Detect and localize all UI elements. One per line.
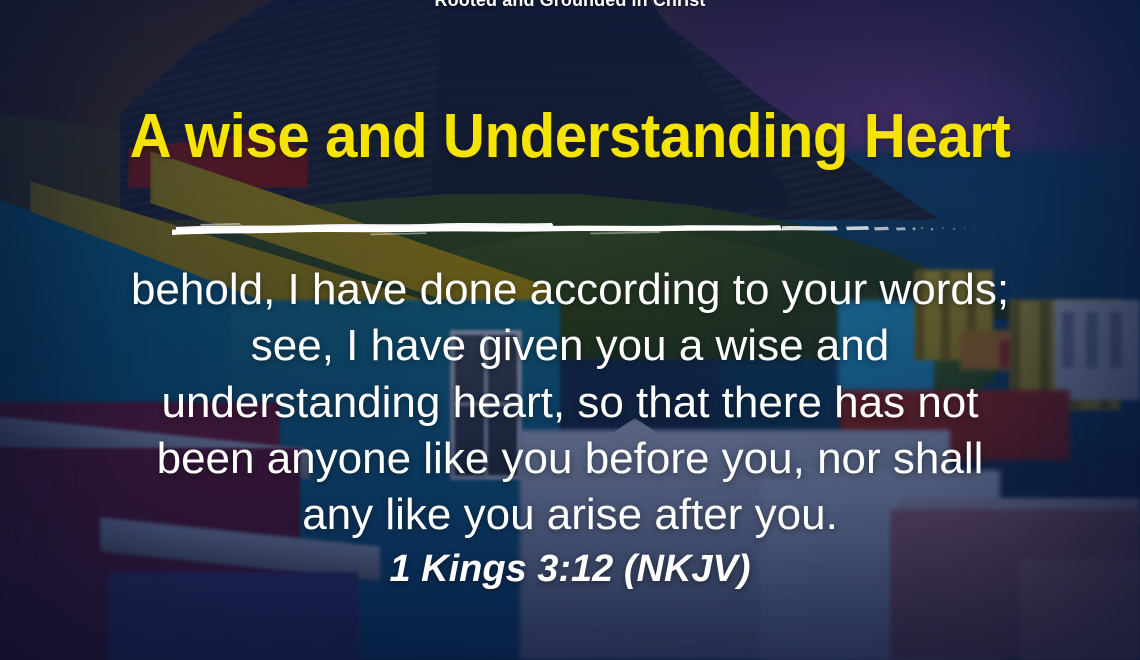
scripture-slide: Rooted and Grounded in Christ A wise and… [0,0,1140,660]
scripture-quote: behold, I have done according to your wo… [130,262,1010,544]
ministry-tagline: Rooted and Grounded in Christ [0,0,1140,11]
slide-content: Rooted and Grounded in Christ A wise and… [0,0,1140,660]
scripture-reference: 1 Kings 3:12 (NKJV) [0,548,1140,591]
slide-title: A wise and Understanding Heart [34,106,1106,168]
brush-stroke-divider-icon [170,218,980,240]
